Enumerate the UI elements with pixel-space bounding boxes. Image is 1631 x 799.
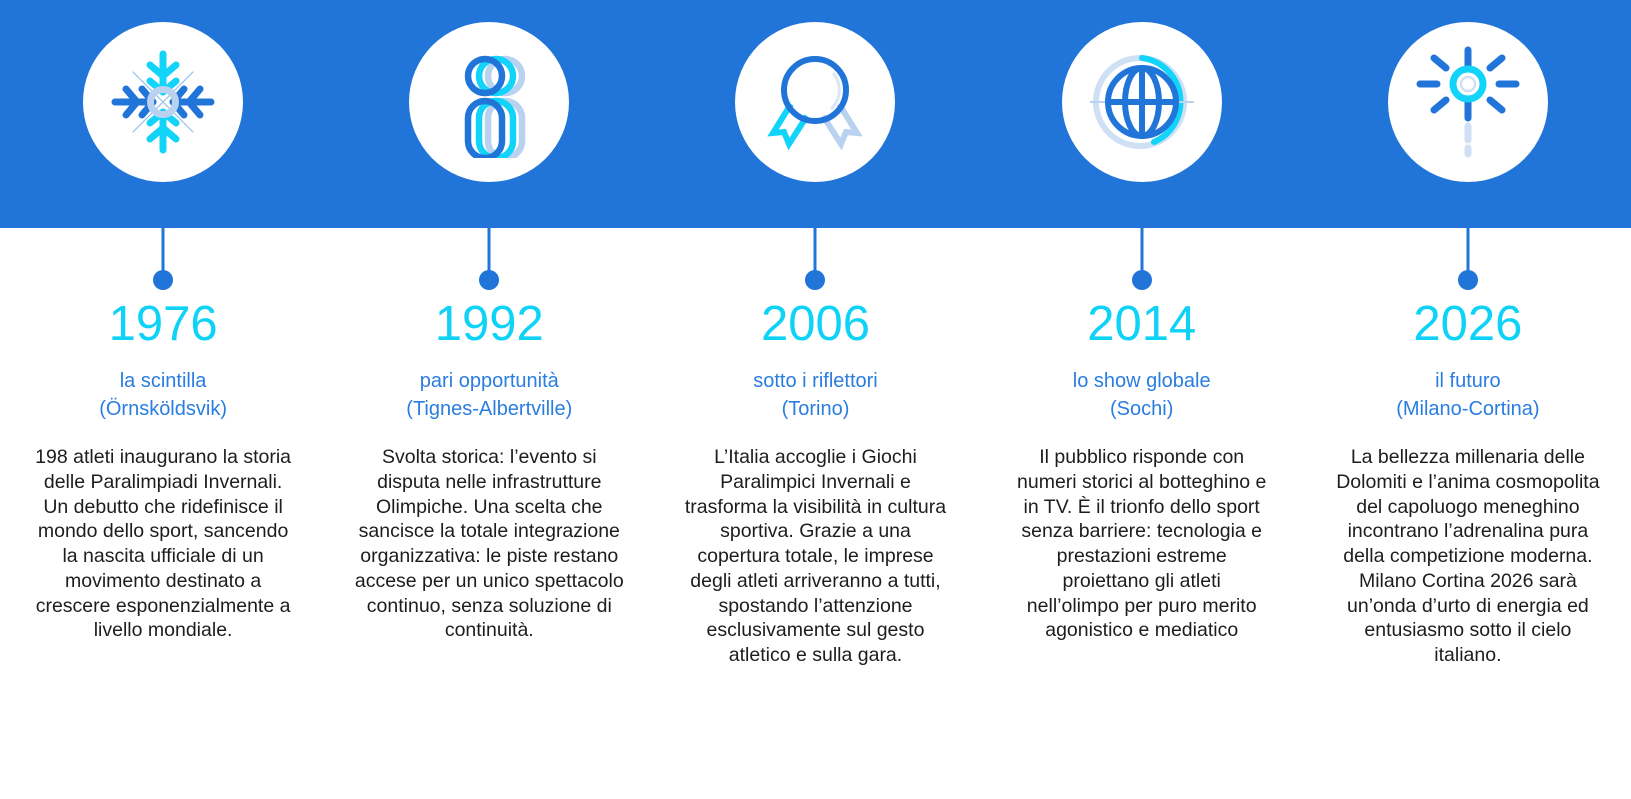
description-text: 198 atleti inaugurano la storia delle Pa… <box>26 445 300 643</box>
connector <box>153 228 173 290</box>
connector-stem <box>1466 228 1469 274</box>
connector-dot <box>479 270 499 290</box>
connector <box>1132 228 1152 290</box>
text-block: 2014 lo show globale(Sochi) Il pubblico … <box>979 300 1305 643</box>
timeline-item-2014[interactable]: 2014 lo show globale(Sochi) Il pubblico … <box>979 0 1305 799</box>
connector-stem <box>162 228 165 274</box>
description-text: La bellezza millenaria delle Dolomiti e … <box>1331 445 1605 668</box>
text-block: 1992 pari opportunità(Tignes-Albertville… <box>326 300 652 643</box>
subtitle-label: sotto i riflettori(Torino) <box>678 368 952 423</box>
connector <box>805 228 825 290</box>
year-label: 2014 <box>1005 300 1279 350</box>
subtitle-label: lo show globale(Sochi) <box>1005 368 1279 423</box>
icon-bubble <box>1388 22 1548 182</box>
people-group-icon <box>433 46 545 158</box>
description-text: Il pubblico risponde con numeri storici … <box>1005 445 1279 643</box>
connector <box>1458 228 1478 290</box>
sparkler-icon <box>1412 46 1524 158</box>
connector-dot <box>153 270 173 290</box>
connector-dot <box>805 270 825 290</box>
text-block: 2006 sotto i riflettori(Torino) L’Italia… <box>652 300 978 668</box>
subtitle-label: il futuro(Milano-Cortina) <box>1331 368 1605 423</box>
timeline-item-2026[interactable]: 2026 il futuro(Milano-Cortina) La bellez… <box>1305 0 1631 799</box>
subtitle-label: pari opportunità(Tignes-Albertville) <box>352 368 626 423</box>
icon-bubble <box>409 22 569 182</box>
description-text: L’Italia accoglie i Giochi Paralimpici I… <box>678 445 952 668</box>
connector <box>479 228 499 290</box>
icon-bubble <box>83 22 243 182</box>
timeline-item-1992[interactable]: 1992 pari opportunità(Tignes-Albertville… <box>326 0 652 799</box>
timeline-infographic: 1976 la scintilla(Örnsköldsvik) 198 atle… <box>0 0 1631 799</box>
timeline-item-2006[interactable]: 2006 sotto i riflettori(Torino) L’Italia… <box>652 0 978 799</box>
subtitle-label: la scintilla(Örnsköldsvik) <box>26 368 300 423</box>
icon-bubble <box>1062 22 1222 182</box>
year-label: 1992 <box>352 300 626 350</box>
text-block: 1976 la scintilla(Örnsköldsvik) 198 atle… <box>0 300 326 643</box>
year-label: 2006 <box>678 300 952 350</box>
connector-dot <box>1458 270 1478 290</box>
year-label: 2026 <box>1331 300 1605 350</box>
connector-stem <box>814 228 817 274</box>
snowflake-icon <box>107 46 219 158</box>
description-text: Svolta storica: l’evento si disputa nell… <box>352 445 626 643</box>
timeline-item-1976[interactable]: 1976 la scintilla(Örnsköldsvik) 198 atle… <box>0 0 326 799</box>
connector-dot <box>1132 270 1152 290</box>
text-block: 2026 il futuro(Milano-Cortina) La bellez… <box>1305 300 1631 668</box>
icon-bubble <box>735 22 895 182</box>
medal-award-icon <box>759 46 871 158</box>
globe-icon <box>1086 46 1198 158</box>
year-label: 1976 <box>26 300 300 350</box>
connector-stem <box>1140 228 1143 274</box>
connector-stem <box>488 228 491 274</box>
timeline-columns: 1976 la scintilla(Örnsköldsvik) 198 atle… <box>0 0 1631 799</box>
